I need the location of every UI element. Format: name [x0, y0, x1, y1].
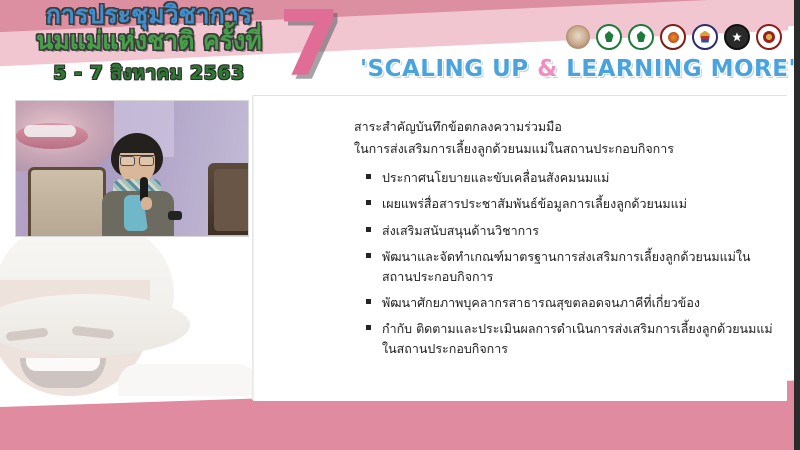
- logo-green-shield-1: [596, 24, 622, 50]
- conference-date: 5 - 7 สิงหาคม 2563: [14, 58, 284, 88]
- eyeglasses-icon: [120, 155, 154, 164]
- bullet-text: พัฒนาศักยภาพบุคลากรสาธารณสุขตลอดจนภาคีที…: [380, 293, 776, 312]
- content-panel: สาระสำคัญบันทึกข้อตกลงความร่วมมือ ในการส…: [253, 95, 787, 401]
- speaker-video-thumbnail: [15, 100, 249, 237]
- bullet-text: กำกับ ติดตามและประเมินผลการดำเนินการส่งเ…: [380, 319, 776, 358]
- logo-red-gold-circle: [756, 24, 782, 50]
- logo-royal-emblem: [566, 25, 590, 49]
- panel-divider: [252, 95, 253, 400]
- tagline-ampersand: &: [537, 56, 558, 82]
- letterbox-right: [794, 0, 800, 450]
- list-item: พัฒนาและจัดทำเกณฑ์มาตรฐานการส่งเสริมการเ…: [366, 247, 776, 286]
- list-item: ประกาศนโยบายและขับเคลื่อนสังคมนมแม่: [366, 168, 776, 187]
- bullet-text: พัฒนาและจัดทำเกณฑ์มาตรฐานการส่งเสริมการเ…: [380, 247, 776, 286]
- conference-tagline: 'SCALING UP & LEARNING MORE': [360, 56, 796, 82]
- content-heading: สาระสำคัญบันทึกข้อตกลงความร่วมมือ ในการส…: [354, 116, 774, 160]
- list-item: ส่งเสริมสนับสนุนด้านวิชาการ: [366, 221, 776, 240]
- child-shirt: [118, 364, 252, 396]
- remote-clicker-icon: [168, 211, 182, 220]
- heading-line-2: ในการส่งเสริมการเลี้ยงลูกด้วยนมแม่ในสถาน…: [354, 138, 774, 160]
- bullet-text: ส่งเสริมสนับสนุนด้านวิชาการ: [380, 221, 776, 240]
- bullet-text: เผยแพร่สื่อสารประชาสัมพันธ์ข้อมูลการเลี้…: [380, 194, 776, 213]
- content-bullet-list: ประกาศนโยบายและขับเคลื่อนสังคมนมแม่ เผยแ…: [366, 168, 776, 365]
- tagline-part-2: LEARNING MORE': [558, 56, 796, 82]
- slide-header: การประชุมวิชาการ นมแม่แห่งชาติ ครั้งที่ …: [0, 0, 800, 96]
- logo-thai-crest: [692, 24, 718, 50]
- logo-orange-red-circle: [660, 24, 686, 50]
- title-line-1: การประชุมวิชาการ: [14, 2, 284, 27]
- list-item: เผยแพร่สื่อสารประชาสัมพันธ์ข้อมูลการเลี้…: [366, 194, 776, 213]
- list-item: กำกับ ติดตามและประเมินผลการดำเนินการส่งเ…: [366, 319, 776, 358]
- slide-canvas: การประชุมวิชาการ นมแม่แห่งชาติ ครั้งที่ …: [0, 0, 800, 450]
- sponsor-logos: สสส: [566, 24, 800, 50]
- heading-line-1: สาระสำคัญบันทึกข้อตกลงความร่วมมือ: [354, 116, 774, 138]
- edition-number: 7: [278, 0, 339, 96]
- backdrop-teeth: [24, 125, 76, 137]
- child-watermark-image: [0, 236, 252, 396]
- speaker-figure: [94, 133, 182, 236]
- chair-right-cushion: [214, 169, 249, 231]
- speaker-hand: [141, 197, 152, 210]
- title-line-2: นมแม่แห่งชาติ ครั้งที่: [14, 28, 284, 54]
- tagline-part-1: 'SCALING UP: [360, 56, 537, 82]
- logo-green-shield-2: [628, 24, 654, 50]
- logo-black-circle-emblem: [724, 24, 750, 50]
- list-item: พัฒนาศักยภาพบุคลากรสาธารณสุขตลอดจนภาคีที…: [366, 293, 776, 312]
- child-teeth: [26, 358, 100, 371]
- bullet-text: ประกาศนโยบายและขับเคลื่อนสังคมนมแม่: [380, 168, 776, 187]
- child-hat-brim: [0, 294, 190, 356]
- conference-title-block: การประชุมวิชาการ นมแม่แห่งชาติ ครั้งที่ …: [14, 2, 284, 88]
- speaker-fringe: [115, 137, 159, 153]
